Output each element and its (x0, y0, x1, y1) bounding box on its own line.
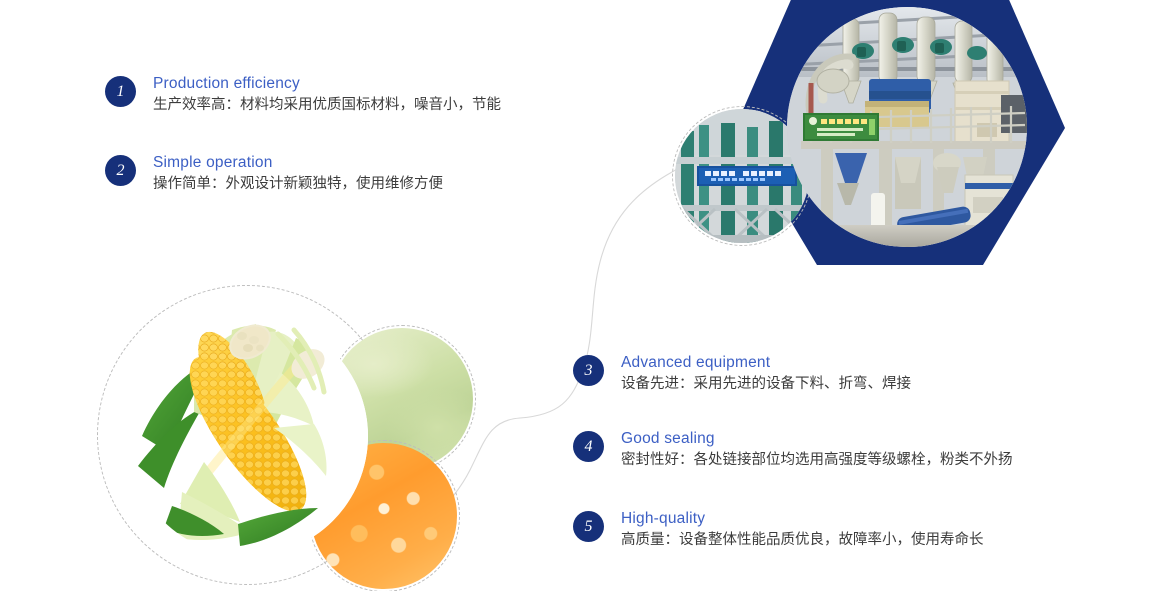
corn-cob-art (128, 316, 368, 556)
feature-title-cn-5: 高质量：设备整体性能品质优良，故障率小，使用寿命长 (621, 529, 984, 551)
feature-item-4[interactable]: 4 Good sealing 密封性好：各处链接部位均选用高强度等级螺栓，粉类不… (573, 429, 1013, 471)
feature-text-3: Advanced equipment 设备先进：采用先进的设备下料、折弯、焊接 (621, 353, 911, 395)
feature-text-2: Simple operation 操作简单：外观设计新颖独特，使用维修方便 (153, 153, 443, 195)
feature-title-en-2: Simple operation (153, 153, 443, 172)
feature-title-en-4: Good sealing (621, 429, 1013, 448)
feature-title-cn-4: 密封性好：各处链接部位均选用高强度等级螺栓，粉类不外扬 (621, 449, 1013, 471)
feature-text-5: High-quality 高质量：设备整体性能品质优良，故障率小，使用寿命长 (621, 509, 984, 551)
plant-photo-art (787, 7, 1027, 247)
feature-badge-2: 2 (105, 155, 136, 186)
feature-item-3[interactable]: 3 Advanced equipment 设备先进：采用先进的设备下料、折弯、焊… (573, 353, 911, 395)
feature-badge-3: 3 (573, 355, 604, 386)
feature-title-en-3: Advanced equipment (621, 353, 911, 372)
feature-badge-1: 1 (105, 76, 136, 107)
plant-photo (787, 7, 1027, 247)
feature-title-cn-2: 操作简单：外观设计新颖独特，使用维修方便 (153, 173, 443, 195)
feature-text-4: Good sealing 密封性好：各处链接部位均选用高强度等级螺栓，粉类不外扬 (621, 429, 1013, 471)
feature-title-en-1: Production efficiency (153, 74, 501, 93)
feature-title-cn-3: 设备先进：采用先进的设备下料、折弯、焊接 (621, 373, 911, 395)
feature-badge-4: 4 (573, 431, 604, 462)
corn-cob-photo (128, 316, 368, 556)
feature-item-2[interactable]: 2 Simple operation 操作简单：外观设计新颖独特，使用维修方便 (105, 153, 443, 195)
feature-badge-5: 5 (573, 511, 604, 542)
feature-title-cn-1: 生产效率高：材料均采用优质国标材料，噪音小，节能 (153, 94, 501, 116)
feature-item-1[interactable]: 1 Production efficiency 生产效率高：材料均采用优质国标材… (105, 74, 501, 116)
page-root: 1 Production efficiency 生产效率高：材料均采用优质国标材… (0, 0, 1154, 591)
feature-text-1: Production efficiency 生产效率高：材料均采用优质国标材料，… (153, 74, 501, 116)
feature-title-en-5: High-quality (621, 509, 984, 528)
feature-item-5[interactable]: 5 High-quality 高质量：设备整体性能品质优良，故障率小，使用寿命长 (573, 509, 984, 551)
